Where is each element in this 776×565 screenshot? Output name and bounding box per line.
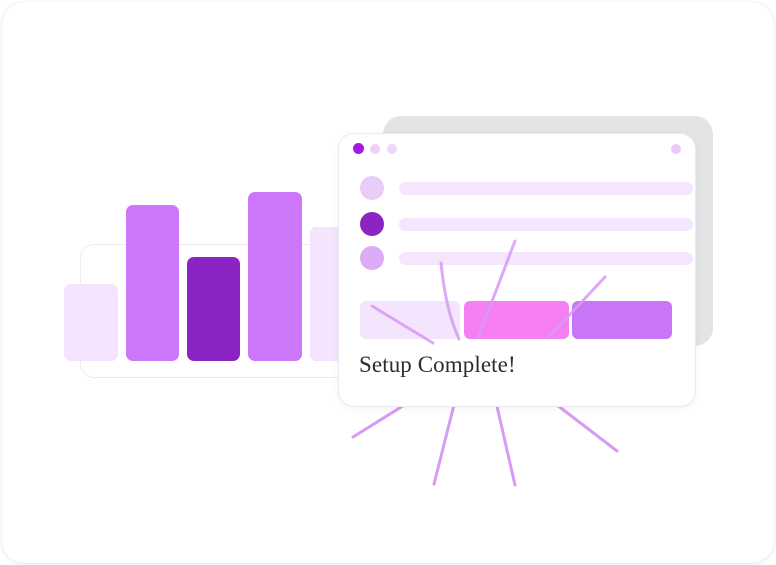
- content-block-1: [360, 301, 460, 339]
- content-block-2: [464, 301, 569, 339]
- setup-complete-card[interactable]: Setup Complete!: [338, 133, 696, 407]
- window-dot-minimize-icon[interactable]: [370, 144, 380, 154]
- avatar: [360, 212, 384, 236]
- content-block-3: [572, 301, 672, 339]
- placeholder-line: [399, 182, 693, 195]
- card-titlebar: [339, 134, 695, 166]
- illustration-stage: Setup Complete!: [0, 0, 776, 565]
- window-dot-maximize-icon[interactable]: [387, 144, 397, 154]
- chart-background-panel: [80, 244, 359, 378]
- window-dot-menu-icon[interactable]: [671, 144, 681, 154]
- window-dot-close-icon[interactable]: [353, 143, 364, 154]
- page-title: Setup Complete!: [359, 352, 516, 378]
- avatar: [360, 176, 384, 200]
- placeholder-line: [399, 252, 693, 265]
- avatar: [360, 246, 384, 270]
- placeholder-line: [399, 218, 693, 231]
